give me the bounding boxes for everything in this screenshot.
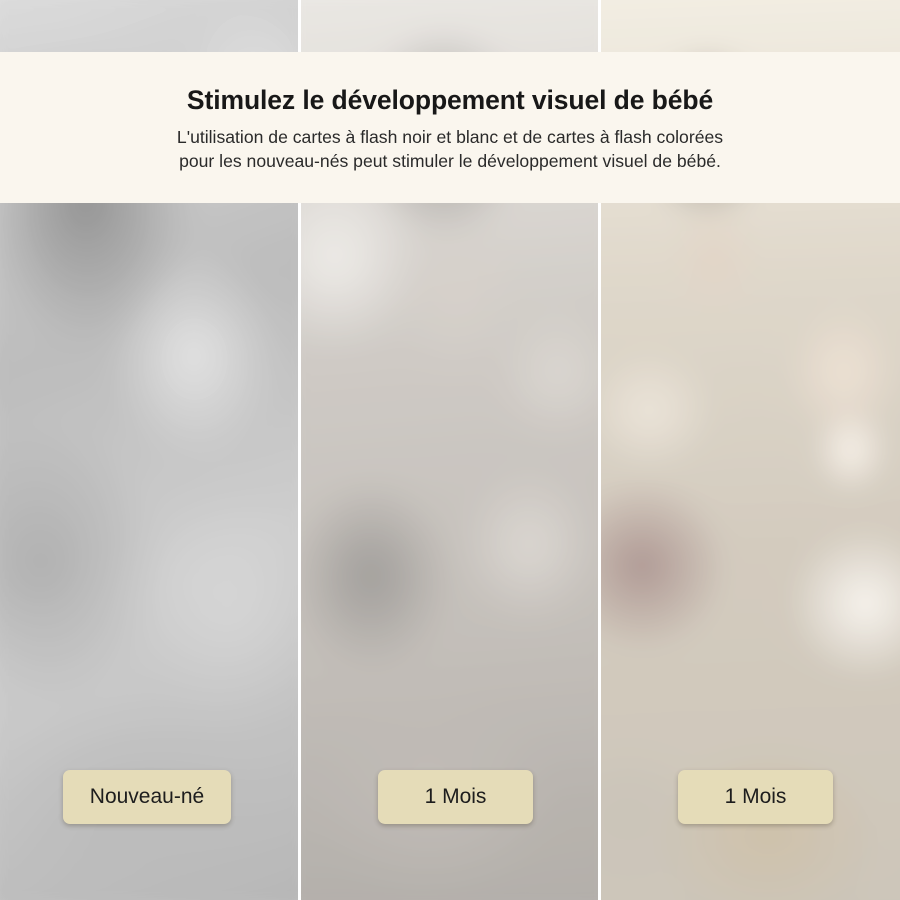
age-badge-one-month-right-label: 1 Mois xyxy=(725,785,787,809)
infographic-root: Stimulez le développement visuel de bébé… xyxy=(0,0,900,900)
page-title: Stimulez le développement visuel de bébé xyxy=(187,86,713,115)
age-badge-newborn-label: Nouveau-né xyxy=(90,785,204,809)
page-subtitle: L'utilisation de cartes à flash noir et … xyxy=(177,126,723,172)
age-badge-one-month-right: 1 Mois xyxy=(678,770,833,824)
page-subtitle-line-2: pour les nouveau-nés peut stimuler le dé… xyxy=(177,150,723,173)
age-badge-newborn: Nouveau-né xyxy=(63,770,231,824)
headline-banner: Stimulez le développement visuel de bébé… xyxy=(0,52,900,203)
age-badge-one-month-left-label: 1 Mois xyxy=(425,785,487,809)
age-badge-one-month-left: 1 Mois xyxy=(378,770,533,824)
page-subtitle-line-1: L'utilisation de cartes à flash noir et … xyxy=(177,126,723,149)
